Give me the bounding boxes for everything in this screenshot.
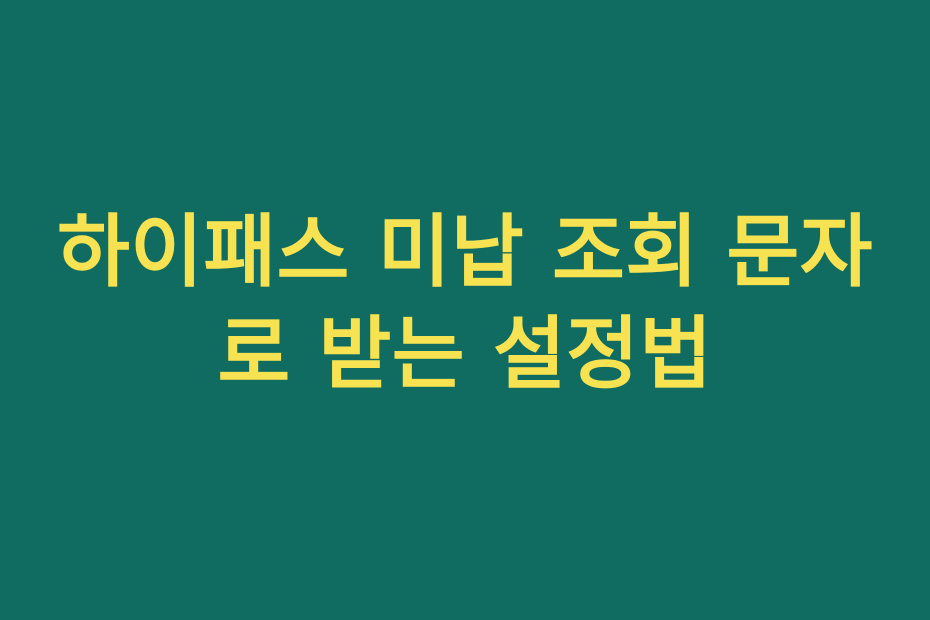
page-title: 하이패스 미납 조회 문자 로 받는 설정법 (25, 200, 905, 406)
title-line-1: 하이패스 미납 조회 문자 (57, 200, 873, 304)
title-line-2: 로 받는 설정법 (217, 302, 712, 406)
thumbnail-canvas: 하이패스 미납 조회 문자 로 받는 설정법 (0, 0, 930, 620)
